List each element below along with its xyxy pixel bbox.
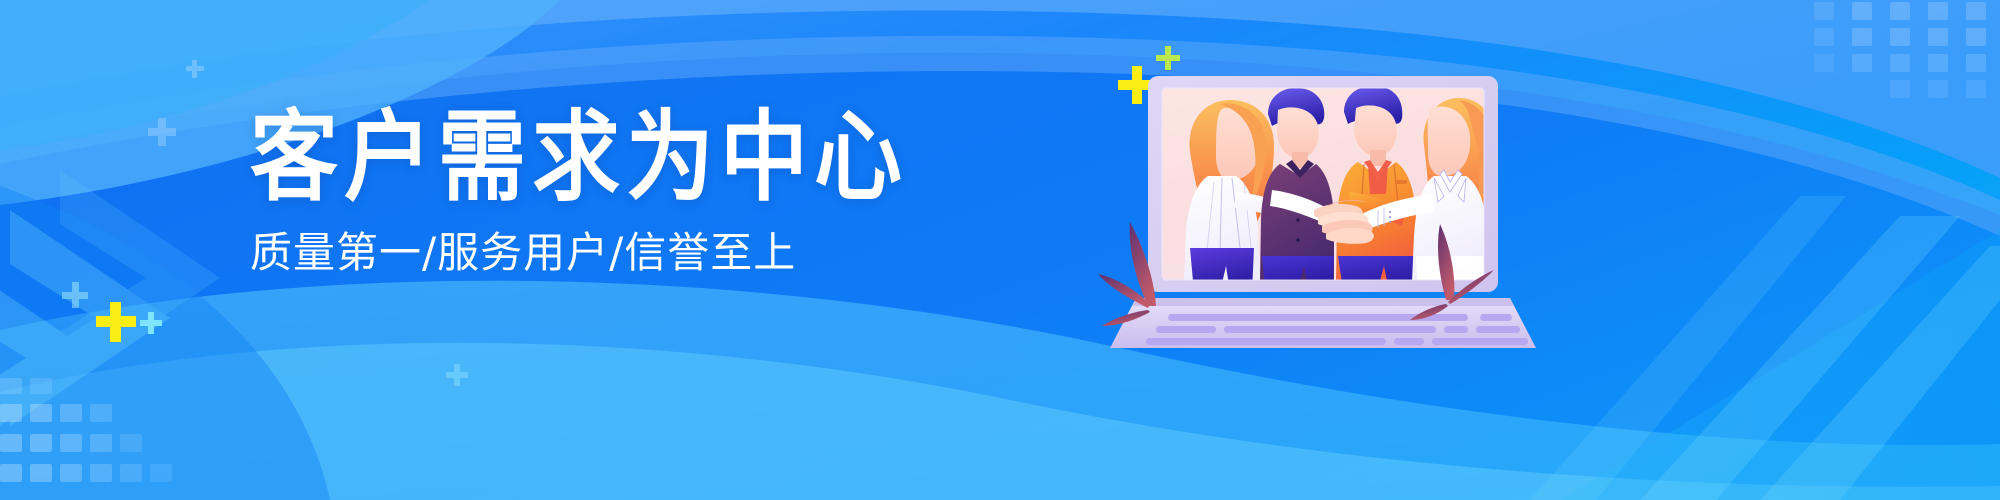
plus-mark-yellow-bottom	[96, 302, 136, 342]
promo-banner: 客户需求为中心 质量第一/服务用户/信誉至上	[0, 0, 2000, 500]
plus-mark-pale-bottom	[62, 282, 88, 308]
banner-subtitle: 质量第一/服务用户/信誉至上	[250, 230, 870, 276]
page-title: 客户需求为中心	[250, 108, 870, 207]
person-man-blue-hair-purple-shirt	[1260, 88, 1334, 296]
plus-mark-pale-mid	[446, 364, 468, 386]
plus-mark-pale-top-a	[186, 60, 204, 78]
plus-mark-pale-top-b	[148, 118, 176, 146]
banner-text-block: 客户需求为中心 质量第一/服务用户/信誉至上	[250, 108, 870, 276]
plus-mark-cyan-bottom	[140, 312, 162, 334]
laptop-teamwork-illustration	[1128, 60, 1548, 360]
